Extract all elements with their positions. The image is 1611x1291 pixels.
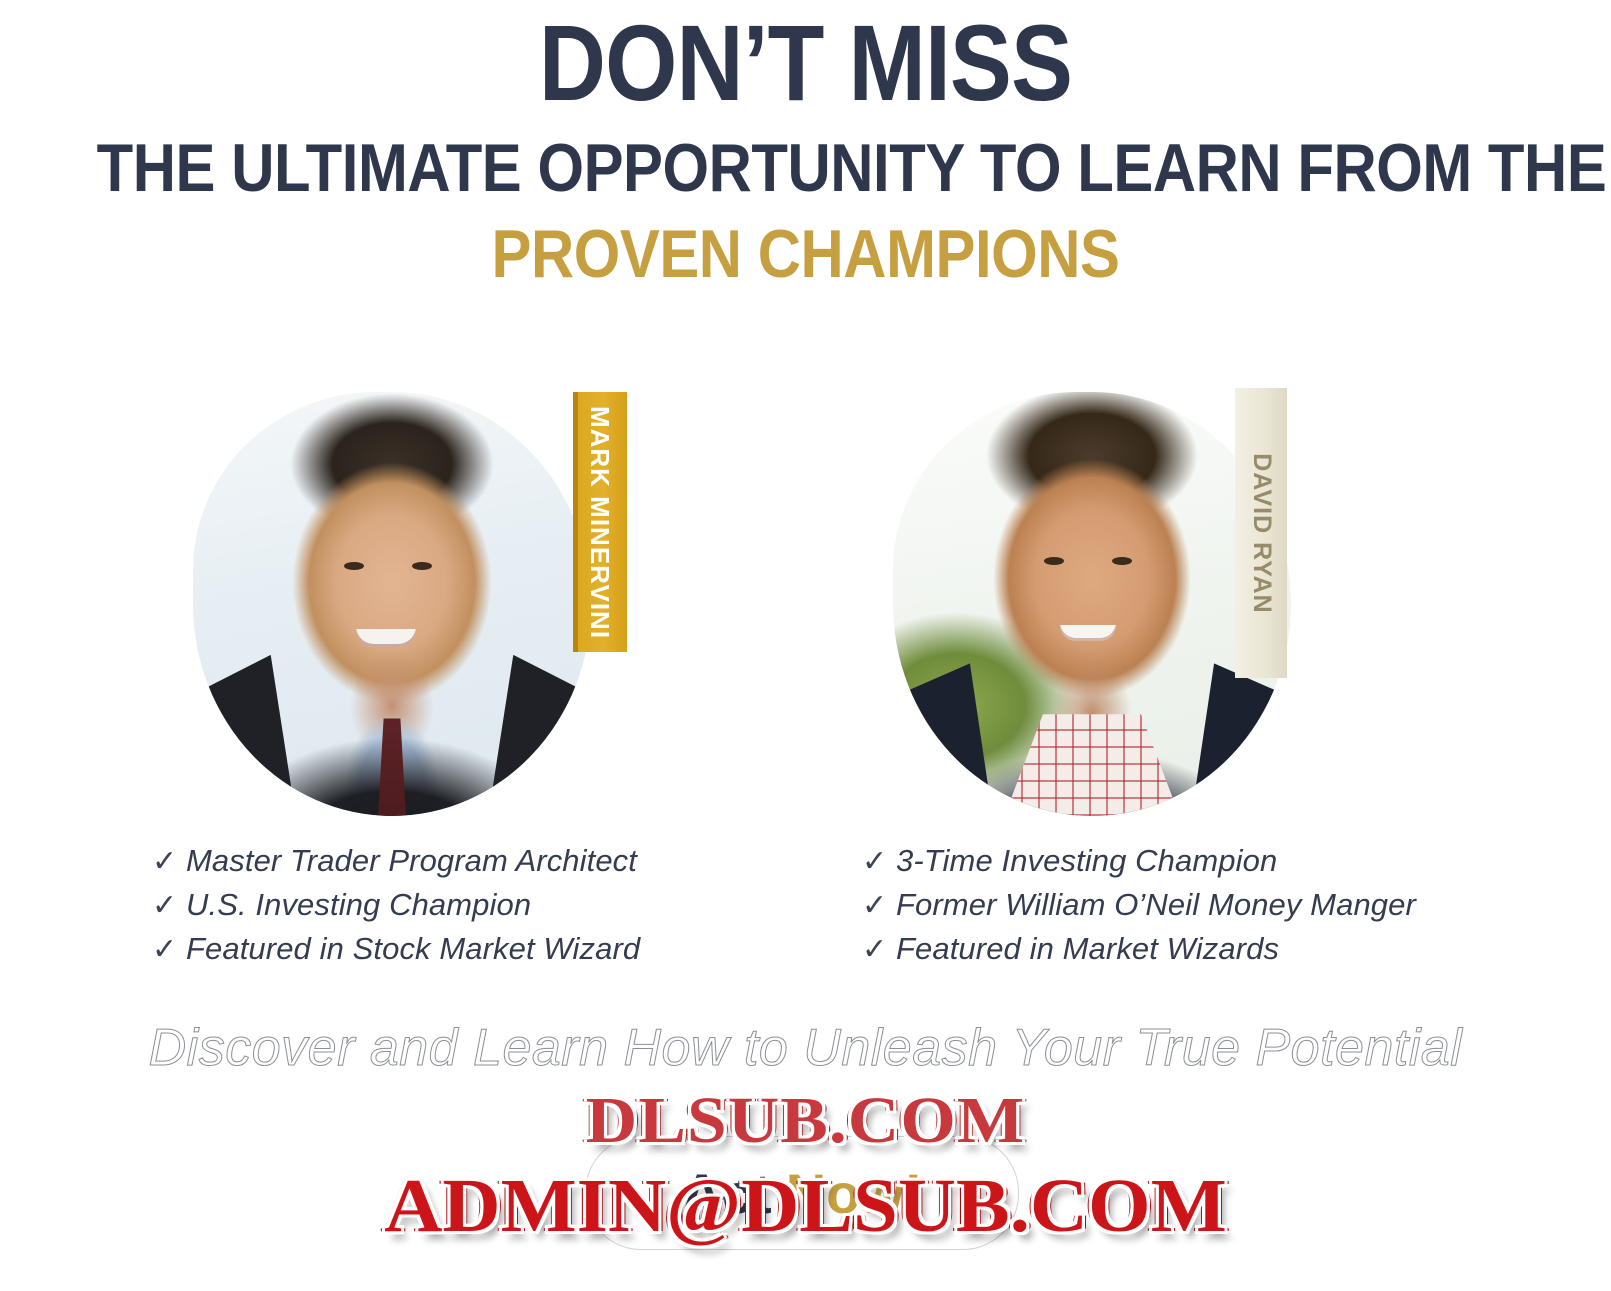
portrait-clip bbox=[893, 392, 1291, 816]
act-now-button[interactable]: Act Now! bbox=[585, 1136, 1019, 1250]
suit-lapel-right bbox=[487, 655, 591, 816]
list-item-label: 3-Time Investing Champion bbox=[896, 843, 1277, 879]
speaker-card-david-ryan: DAVID RYAN bbox=[885, 378, 1355, 838]
headline-line-2: THE ULTIMATE OPPORTUNITY TO LEARN FROM T… bbox=[97, 132, 1515, 205]
tagline: Discover and Learn How to Unleash Your T… bbox=[0, 1018, 1611, 1078]
necktie bbox=[371, 718, 413, 816]
smile bbox=[1060, 625, 1116, 641]
portrait-photo bbox=[193, 392, 591, 816]
headline-line-1: DON’T MISS bbox=[113, 8, 1498, 118]
name-ribbon-label: MARK MINERVINI bbox=[585, 405, 616, 638]
suit-lapel-left bbox=[893, 663, 995, 816]
check-icon: ✓ bbox=[152, 935, 186, 965]
list-item: ✓ Former William O’Neil Money Manger bbox=[862, 887, 1416, 931]
checked-shirt bbox=[1004, 714, 1179, 816]
list-item: ✓ 3-Time Investing Champion bbox=[862, 843, 1416, 887]
suit-lapel-left bbox=[193, 655, 297, 816]
headline-block: DON’T MISS THE ULTIMATE OPPORTUNITY TO L… bbox=[0, 0, 1611, 291]
list-item: ✓ U.S. Investing Champion bbox=[152, 887, 640, 931]
portrait-mark-minervini bbox=[193, 392, 591, 816]
eye-right bbox=[1112, 557, 1132, 565]
check-icon: ✓ bbox=[862, 891, 896, 921]
list-item-label: Master Trader Program Architect bbox=[186, 843, 637, 879]
check-icon: ✓ bbox=[152, 847, 186, 877]
headline-line-3: PROVEN CHAMPIONS bbox=[97, 218, 1515, 291]
list-item: ✓ Featured in Stock Market Wizard bbox=[152, 931, 640, 975]
credentials-list-mark-minervini: ✓ Master Trader Program Architect ✓ U.S.… bbox=[152, 843, 640, 975]
list-item-label: Former William O’Neil Money Manger bbox=[896, 887, 1416, 923]
portrait-david-ryan bbox=[893, 392, 1291, 816]
check-icon: ✓ bbox=[862, 847, 896, 877]
check-icon: ✓ bbox=[152, 891, 186, 921]
portrait-clip bbox=[193, 392, 591, 816]
portrait-photo bbox=[893, 392, 1291, 816]
suit-lapel-right bbox=[1189, 663, 1291, 816]
name-ribbon-mark-minervini: MARK MINERVINI bbox=[573, 392, 627, 652]
smile bbox=[356, 629, 416, 647]
name-ribbon-david-ryan: DAVID RYAN bbox=[1235, 388, 1287, 678]
speaker-card-mark-minervini: MARK MINERVINI bbox=[185, 378, 655, 838]
eye-left bbox=[344, 562, 364, 570]
check-icon: ✓ bbox=[862, 935, 896, 965]
eye-left bbox=[1044, 557, 1064, 565]
credentials-list-david-ryan: ✓ 3-Time Investing Champion ✓ Former Wil… bbox=[862, 843, 1416, 975]
list-item-label: Featured in Stock Market Wizard bbox=[186, 931, 640, 967]
list-item: ✓ Master Trader Program Architect bbox=[152, 843, 640, 887]
act-now-button-label-act: Act bbox=[681, 1161, 771, 1226]
speakers-row: MARK MINERVINI DAVID RYAN bbox=[0, 378, 1611, 848]
list-item: ✓ Featured in Market Wizards bbox=[862, 931, 1416, 975]
name-ribbon-label: DAVID RYAN bbox=[1247, 453, 1276, 614]
list-item-label: U.S. Investing Champion bbox=[186, 887, 531, 923]
list-item-label: Featured in Market Wizards bbox=[896, 931, 1279, 967]
act-now-button-label-now: Now! bbox=[786, 1161, 923, 1226]
eye-right bbox=[412, 562, 432, 570]
